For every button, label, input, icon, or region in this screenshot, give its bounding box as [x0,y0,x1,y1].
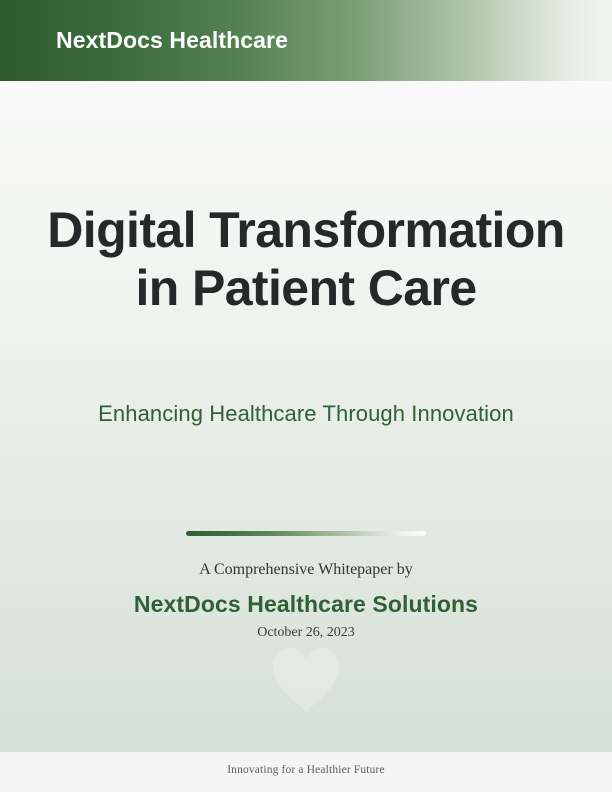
title-block: Digital Transformation in Patient Care [0,201,612,317]
byline-date: October 26, 2023 [0,623,612,642]
divider-rule [186,531,426,536]
title-line-1: Digital Transformation [47,202,564,258]
page-footer: Innovating for a Healthier Future [0,752,612,792]
cover-page: NextDocs Healthcare Digital Transformati… [0,0,612,792]
title-line-2: in Patient Care [0,259,612,317]
page-title: Digital Transformation in Patient Care [0,201,612,317]
footer-tagline: Innovating for a Healthier Future [0,764,612,776]
byline-block: A Comprehensive Whitepaper by NextDocs H… [0,559,612,642]
cover-body: Digital Transformation in Patient Care E… [0,81,612,752]
byline-prefix: A Comprehensive Whitepaper by [0,559,612,581]
byline-organization: NextDocs Healthcare Solutions [0,590,612,618]
heart-icon [270,647,342,713]
page-subtitle: Enhancing Healthcare Through Innovation [0,399,612,429]
page-header: NextDocs Healthcare [0,0,612,81]
brand-title: NextDocs Healthcare [56,27,288,54]
